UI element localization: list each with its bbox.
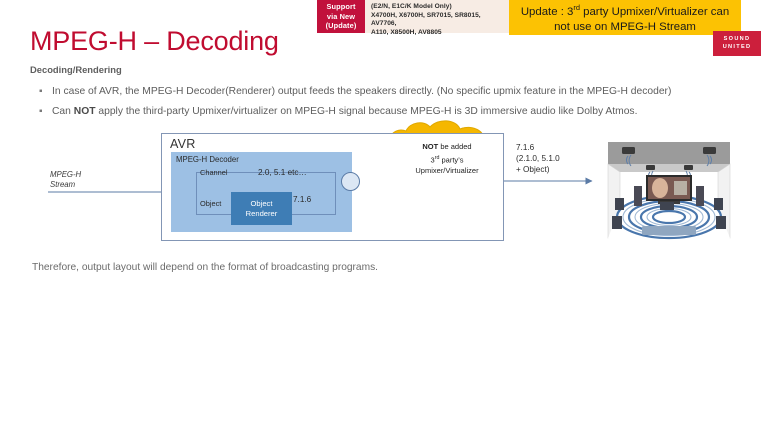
output-line-1: 7.1.6 [516,142,560,153]
channel-format-label: 2.0, 5.1 etc… [258,168,307,177]
supported-model-list: (E2/N, E1C/K Model Only) X4700H, X6700H,… [365,0,509,33]
section-subtitle: Decoding/Rendering [30,64,122,75]
support-callout: Support via New (Update) (E2/N, E1C/K Mo… [317,0,509,33]
update-banner-prefix: Update : 3 [521,6,574,18]
bullet-text-pre: In case of AVR, the MPEG-H Decoder(Rende… [52,86,671,97]
bullet-text-bold: NOT [74,106,96,117]
object-renderer-line1: Object [251,199,273,209]
footer-note: Therefore, output layout will depend on … [32,262,378,273]
logo-line-2: UNITED [723,44,752,51]
model-line-2: X4700H, X6700H, SR7015, SR8015, AV7706, [371,12,505,29]
channel-label: Channel [200,168,228,177]
page-title: MPEG-H – Decoding [30,26,279,57]
support-badge-line2: via New [327,12,355,22]
input-stream-line-1: MPEG-H [50,170,81,180]
bullet-item: ▪ Can NOT apply the third-party Upmixer/… [34,102,746,122]
object-renderer-box: Object Renderer [231,192,292,225]
model-line-3: A110, X8500H, AV8805 [371,29,505,38]
cloud-line2-rest: party’s [439,155,463,164]
output-format-label: 7.1.6 (2.1.0, 5.1.0 + Object) [516,142,560,176]
object-label: Object [200,199,221,208]
update-banner-rest: party Upmixer/Virtualizer can not use on… [554,6,729,33]
input-stream-label: MPEG-H Stream [50,170,81,190]
support-badge-line3: (Update) [326,21,357,31]
bullet-list: ▪ In case of AVR, the MPEG-H Decoder(Ren… [34,82,746,122]
bullet-dot-icon: ▪ [39,102,43,122]
logo-line-1: SOUND [724,36,751,43]
output-line-3: + Object) [516,164,560,175]
cloud-callout-text: NOT be added 3rd party’s Upmixer/Virtual… [395,142,499,176]
bullet-text-pre: Can [52,106,74,117]
mpegh-decoder-label: MPEG-H Decoder [176,155,239,164]
object-renderer-line2: Renderer [246,209,278,219]
cloud-line1-bold: NOT [422,142,438,151]
bullet-item: ▪ In case of AVR, the MPEG-H Decoder(Ren… [34,82,746,102]
model-line-1: (E2/N, E1C/K Model Only) [371,3,505,12]
output-line-2: (2.1.0, 5.1.0 [516,153,560,164]
cloud-line1-rest: be added [438,142,471,151]
object-format-label: 7.1.6 [293,195,311,204]
cloud-line3: Upmixer/Virtualizer [395,166,499,177]
support-badge: Support via New (Update) [317,0,365,33]
avr-label: AVR [170,137,196,151]
summing-junction-icon [341,172,360,191]
bullet-text-post: apply the third-party Upmixer/virtualize… [96,106,638,117]
slide-root: Support via New (Update) (E2/N, E1C/K Mo… [0,0,770,433]
home-theater-room-image [598,138,740,242]
update-banner-sup: rd [573,3,580,12]
support-badge-line1: Support [326,2,355,12]
update-banner: Update : 3rd party Upmixer/Virtualizer c… [509,0,741,35]
bullet-dot-icon: ▪ [39,82,43,102]
input-stream-line-2: Stream [50,180,81,190]
sound-united-logo: SOUND UNITED [713,31,761,56]
